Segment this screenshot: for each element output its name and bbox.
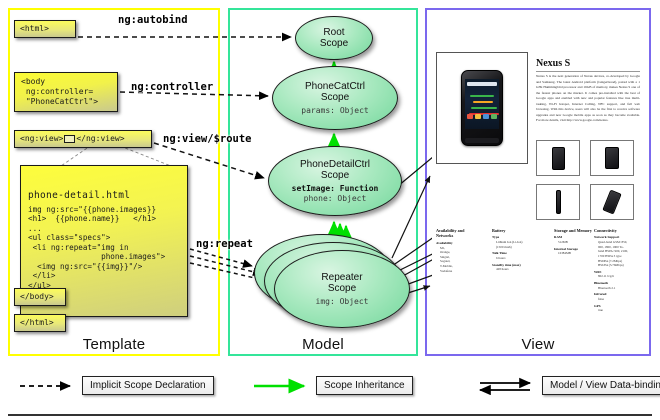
edge-label-ngrepeat: ng:repeat — [196, 238, 253, 250]
title-divider — [536, 71, 640, 72]
legend-item-scope-inheritance: Scope Inheritance — [252, 376, 413, 395]
thumbnail-phone-back[interactable] — [590, 140, 634, 176]
spec-column-availability: Availability and Networks Availability M… — [436, 228, 482, 273]
scope-phonedetailctrl-title: PhoneDetailCtrl Scope — [300, 159, 370, 181]
ngview-close-tag: </ng:view> — [76, 134, 124, 143]
edge-label-ngview-route: ng:view/$route — [163, 133, 252, 145]
phone-app-icons — [467, 114, 497, 119]
ngview-box: <ng:view></ng:view> — [14, 130, 152, 148]
scope-phonedetailctrl: PhoneDetailCtrl Scope setImage: Function… — [268, 146, 402, 216]
product-description: Nexus S is the next generation of Nexus … — [536, 74, 640, 124]
scope-phonecatctrl-title: PhoneCatCtrl Scope — [305, 81, 365, 103]
scope-root: Root Scope — [295, 16, 373, 60]
body-controller-box: <body ng:controller= "PhoneCatCtrl"> — [14, 72, 118, 112]
sticky-note-code: img ng:src="{{phone.images}} <h1> {{phon… — [28, 205, 165, 299]
panel-label-model: Model — [228, 336, 418, 353]
phone-device-render — [461, 70, 503, 146]
scope-repeater-title: Repeater Scope — [321, 272, 362, 294]
scope-phonecatctrl: PhoneCatCtrl Scope params: Object — [272, 66, 398, 130]
scope-phonecatctrl-props: params: Object — [301, 106, 368, 116]
dashed-arrow-icon — [18, 377, 82, 395]
scope-phonedetailctrl-props: setImage: Function phone: Object — [292, 184, 379, 203]
phone-screen — [465, 79, 499, 129]
legend-divider — [8, 414, 652, 416]
panel-label-template: Template — [8, 336, 220, 353]
spec-column-battery: Battery Type Lithium Ion (Li-Ion) (1500 … — [492, 228, 546, 272]
phone-hero-image — [436, 52, 528, 164]
thumbnail-phone-front[interactable] — [536, 140, 580, 176]
spec-values: M1, Orange, Singtel, Sogatel, T-Mobile, … — [436, 246, 482, 274]
product-title: Nexus S — [536, 58, 570, 69]
solid-arrow-icon — [252, 377, 316, 395]
legend-label-data-binding: Model / View Data-binding — [542, 376, 660, 395]
legend-item-data-binding: Model / View Data-binding — [478, 376, 660, 395]
legend-label-implicit: Implicit Scope Declaration — [82, 376, 214, 395]
body-close-tag-box: </body> — [14, 288, 66, 306]
legend-label-inheritance: Scope Inheritance — [316, 376, 413, 395]
diagram-canvas: <html> <body ng:controller= "PhoneCatCtr… — [0, 0, 660, 420]
edge-label-autobind: ng:autobind — [118, 14, 188, 26]
edge-label-controller: ng:controller — [131, 81, 213, 93]
thumbnail-phone-side[interactable] — [536, 184, 580, 220]
ngview-placeholder-icon — [64, 135, 75, 143]
ngview-open-tag: <ng:view> — [20, 134, 63, 143]
spec-column-connectivity: Connectivity Network Support Quad-band G… — [594, 228, 642, 313]
scope-root-title: Root Scope — [320, 27, 348, 49]
legend-item-implicit-scope-declaration: Implicit Scope Declaration — [18, 376, 214, 395]
double-arrow-icon — [478, 377, 542, 395]
specs-table: Availability and Networks Availability M… — [434, 228, 642, 324]
phone-search-bar — [467, 82, 497, 86]
html-tag-box: <html> — [14, 20, 76, 38]
scope-repeater: Repeater Scope img: Object — [274, 250, 410, 328]
sticky-note-title: phone-detail.html — [28, 190, 181, 202]
legend: Implicit Scope Declaration Scope Inherit… — [0, 366, 660, 420]
html-close-tag-box: </html> — [14, 314, 66, 332]
panel-label-view: View — [425, 336, 651, 353]
rendered-view-page: Nexus S Nexus S is the next generation o… — [432, 22, 644, 328]
phone-home-bar — [465, 138, 499, 143]
scope-repeater-props: img: Object — [316, 297, 369, 307]
thumbnail-phone-angled[interactable] — [590, 184, 634, 220]
